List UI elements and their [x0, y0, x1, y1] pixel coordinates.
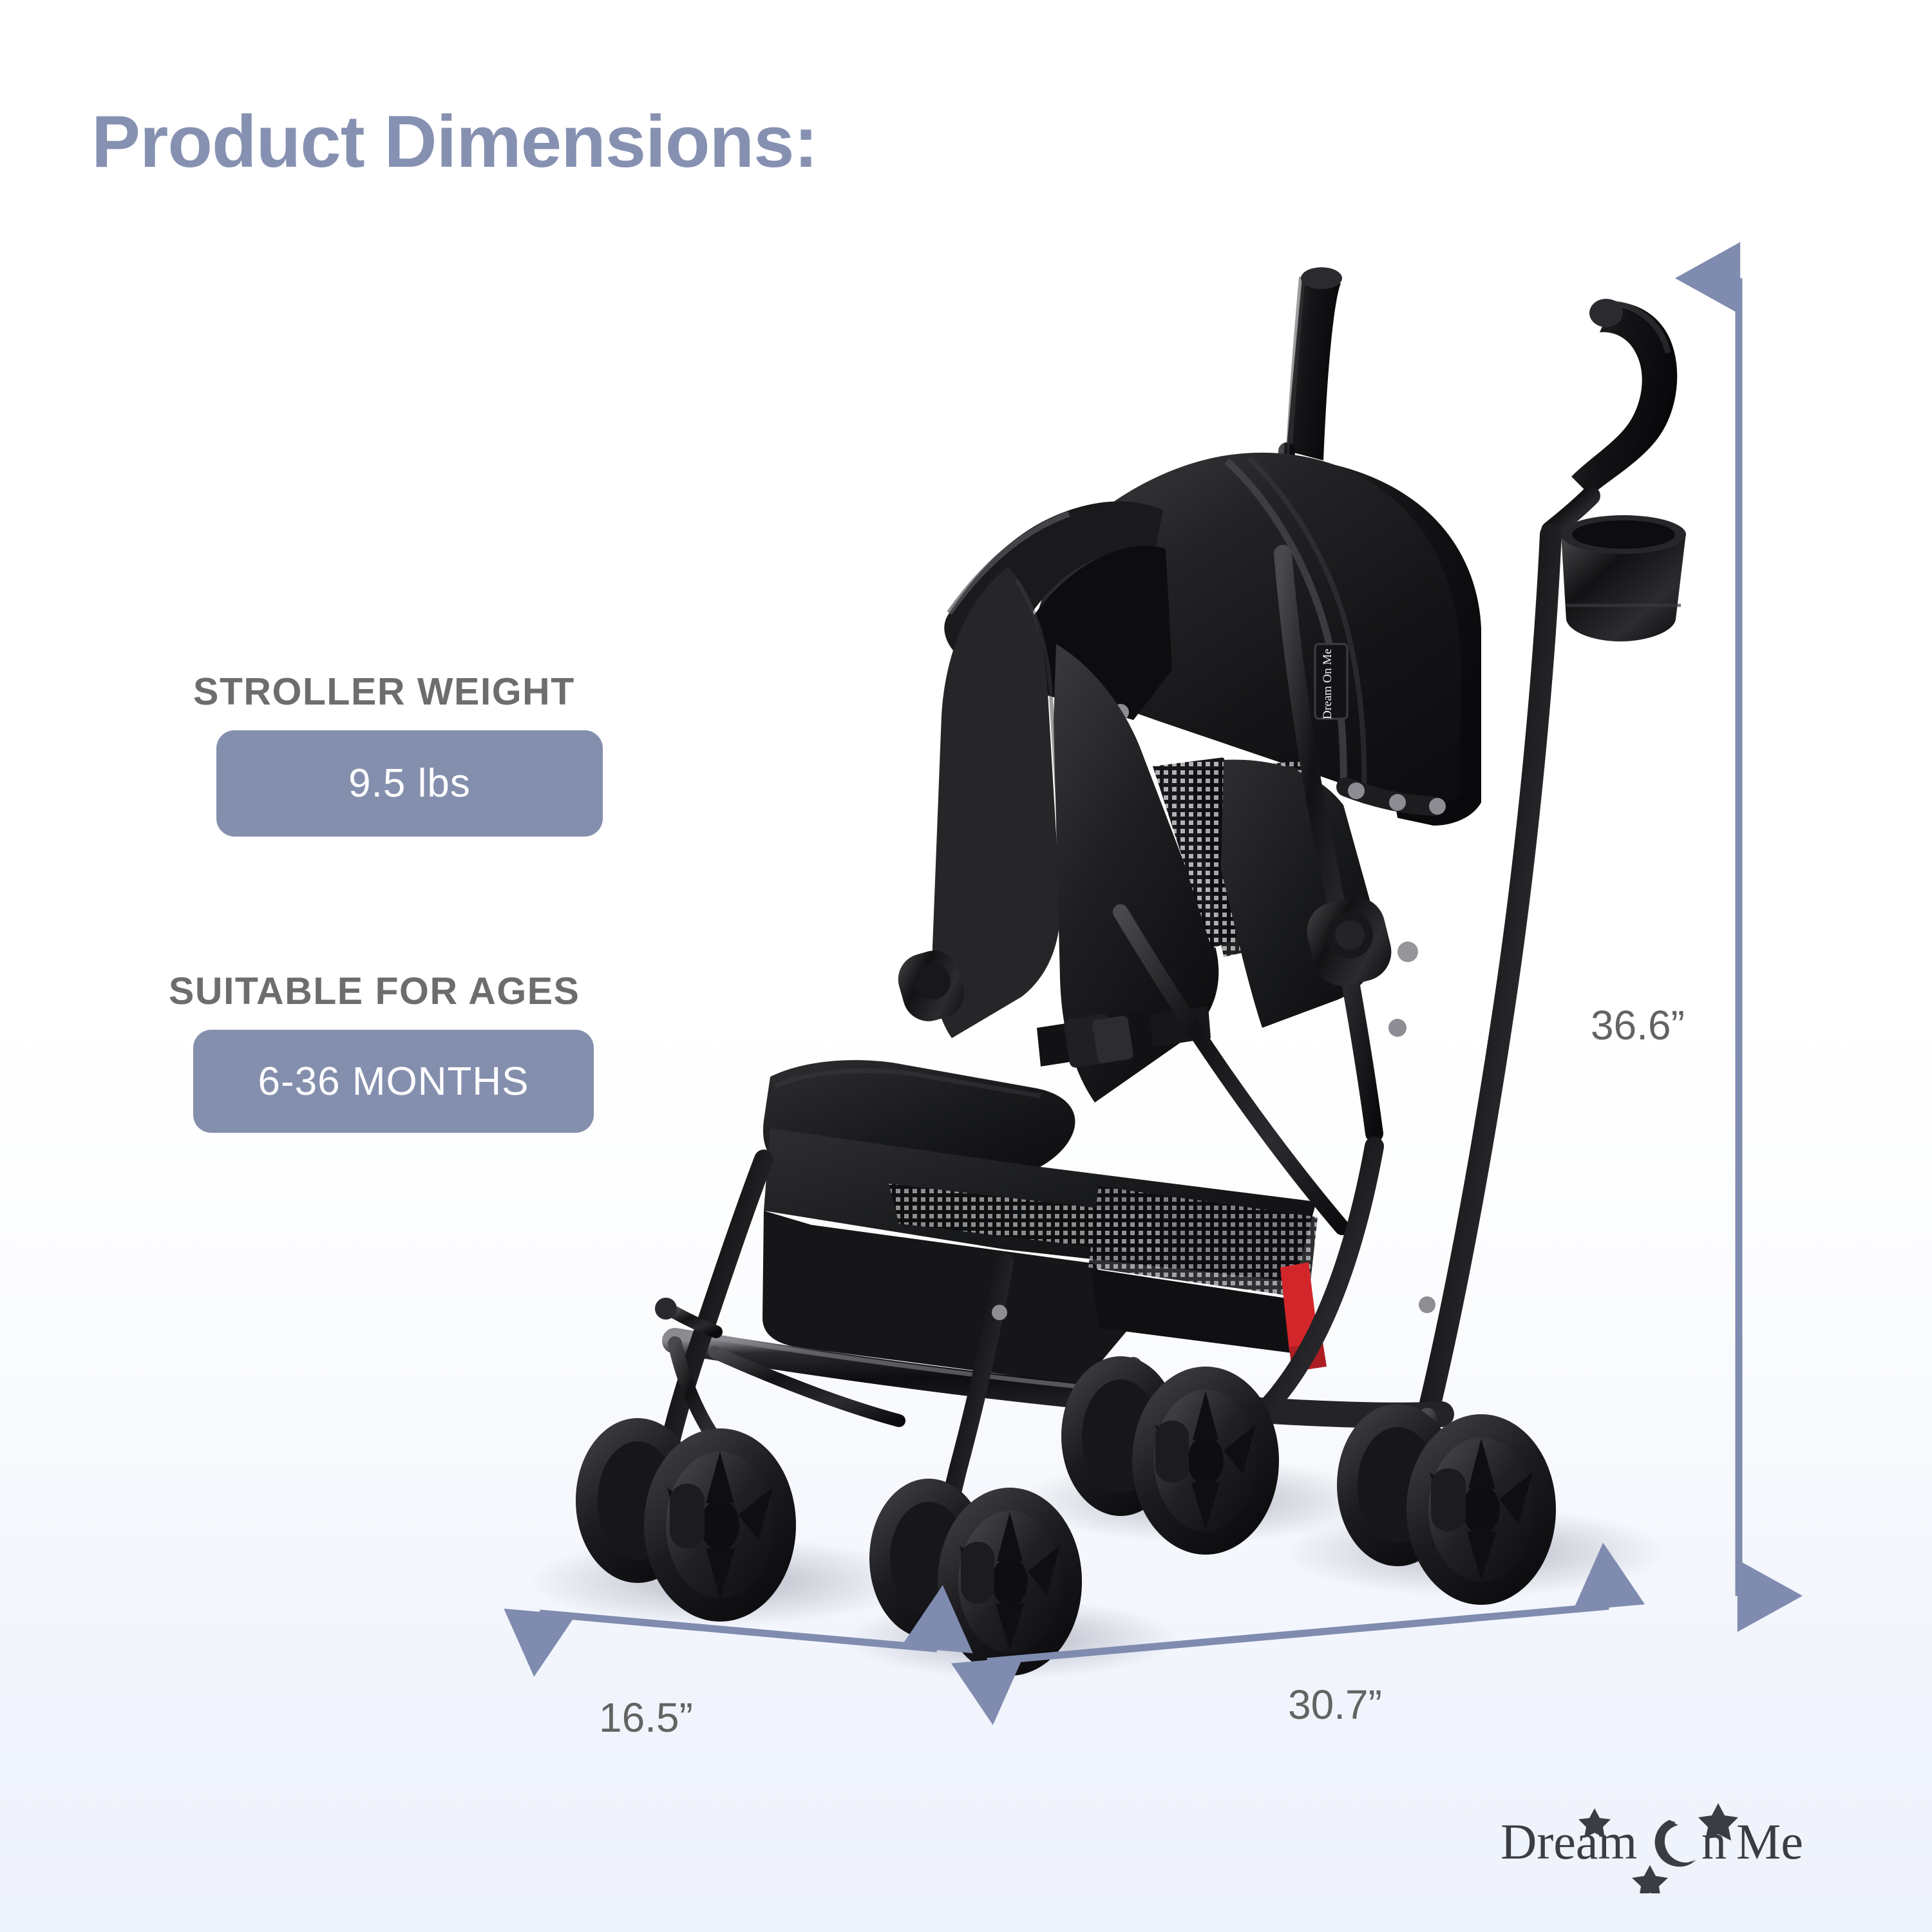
- brand-logo: Dream n Me: [1501, 1797, 1861, 1893]
- star-icon-bottom: [1632, 1865, 1668, 1893]
- crescent-o-icon: [1655, 1820, 1696, 1867]
- brand-word-me: Me: [1736, 1814, 1803, 1870]
- dimension-label-width: 16.5”: [599, 1694, 693, 1741]
- dimension-arrows: [0, 0, 1932, 1932]
- brand-word-dream: Dream: [1501, 1814, 1637, 1870]
- infographic-canvas: Product Dimensions: STROLLER WEIGHT 9.5 …: [0, 0, 1932, 1932]
- brand-logo-mark: Dream n Me: [1501, 1797, 1861, 1893]
- dimension-label-height: 36.6”: [1591, 1001, 1685, 1049]
- width-dimension-arrow: [540, 1613, 937, 1649]
- depth-dimension-arrow: [987, 1606, 1609, 1662]
- dimension-label-depth: 30.7”: [1288, 1681, 1382, 1728]
